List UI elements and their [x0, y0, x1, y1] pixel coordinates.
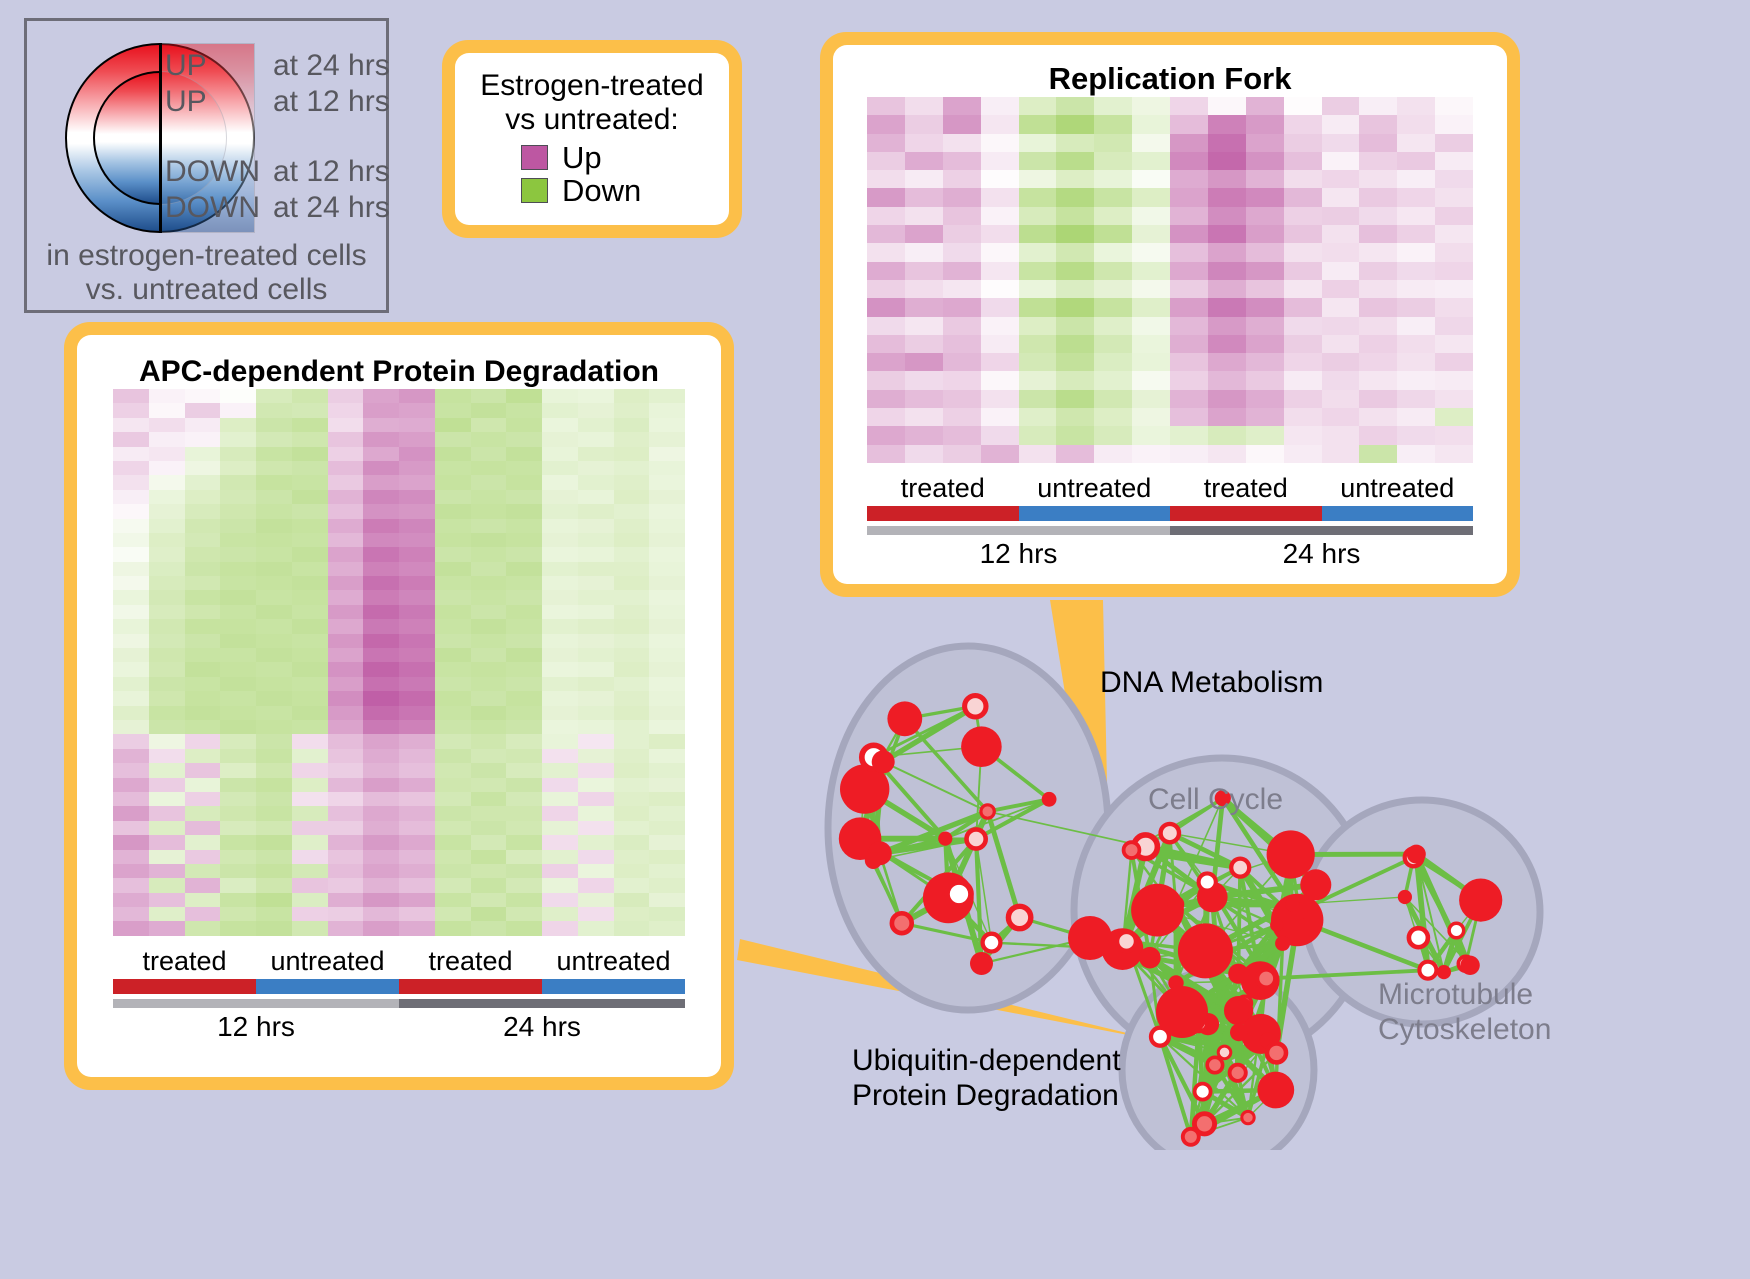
heatmap-cell — [399, 734, 435, 748]
heatmap-cell — [328, 605, 364, 619]
heatmap-cell — [614, 432, 650, 446]
heatmap-cell — [1019, 262, 1057, 280]
heatmap-cell — [1322, 97, 1360, 115]
heatmap-cell — [256, 634, 292, 648]
network-node — [887, 701, 922, 736]
heatmap-cell — [471, 648, 507, 662]
heatmap-cell — [578, 432, 614, 446]
heatmap-cell — [328, 447, 364, 461]
heatmap-cell — [471, 677, 507, 691]
heatmap-cell — [506, 533, 542, 547]
heatmap-cell — [1359, 353, 1397, 371]
heatmap-cell — [363, 662, 399, 676]
heatmap-cell — [943, 280, 981, 298]
heatmap-cell — [578, 835, 614, 849]
heatmap-cell — [614, 677, 650, 691]
heatmap-cell — [185, 921, 221, 935]
heatmap-cell — [328, 792, 364, 806]
heatmap-cell — [1397, 335, 1435, 353]
color-key-panel: Estrogen-treated vs untreated: Up Down — [442, 40, 742, 238]
heatmap-cell — [1246, 335, 1284, 353]
heatmap-cell — [1056, 371, 1094, 389]
network-node — [1231, 859, 1249, 877]
network-node — [981, 805, 994, 818]
wheel-label-down-24: DOWN — [165, 191, 260, 225]
heatmap-cell — [1246, 170, 1284, 188]
heatmap-cell — [1208, 426, 1246, 444]
heatmap-cell — [471, 734, 507, 748]
heatmap-cell — [506, 590, 542, 604]
heatmap-cell — [506, 720, 542, 734]
heatmap-cell — [399, 547, 435, 561]
heatmap-cell — [328, 778, 364, 792]
heatmap-cell — [149, 619, 185, 633]
heatmap-cell — [328, 490, 364, 504]
heatmap-cell — [1094, 298, 1132, 316]
heatmap-cell — [1019, 445, 1057, 463]
heatmap-cell — [113, 490, 149, 504]
heatmap-cell — [149, 447, 185, 461]
heatmap-cell — [256, 403, 292, 417]
heatmap-cell — [981, 390, 1019, 408]
heatmap-cell — [1435, 134, 1473, 152]
heatmap-cell — [1170, 445, 1208, 463]
heatmap-cell — [578, 749, 614, 763]
heatmap-cell — [1094, 188, 1132, 206]
heatmap-cell — [1359, 207, 1397, 225]
heatmap-cell — [506, 835, 542, 849]
heatmap-cell — [185, 677, 221, 691]
heatmap-cell — [867, 170, 905, 188]
heatmap-cell — [292, 835, 328, 849]
heatmap-cell — [506, 576, 542, 590]
heatmap-cell — [614, 576, 650, 590]
heatmap-cell — [471, 519, 507, 533]
heatmap-cell — [435, 519, 471, 533]
heatmap-cell — [1246, 280, 1284, 298]
heatmap-cell — [1397, 97, 1435, 115]
bar-time-12 — [867, 526, 1170, 535]
heatmap-cell — [256, 475, 292, 489]
heatmap-cell — [1056, 280, 1094, 298]
heatmap-cell — [1132, 298, 1170, 316]
heatmap-cell — [649, 821, 685, 835]
heatmap-cell — [542, 662, 578, 676]
heatmap-cell — [1246, 243, 1284, 261]
wheel-label-down-12: DOWN — [165, 155, 260, 189]
heatmap-cell — [1094, 353, 1132, 371]
heatmap-cell — [471, 490, 507, 504]
heatmap-cell — [328, 403, 364, 417]
heatmap-cell — [649, 634, 685, 648]
heatmap-cell — [471, 893, 507, 907]
heatmap-cell — [1435, 262, 1473, 280]
heatmap-cell — [943, 225, 981, 243]
heatmap-cell — [506, 504, 542, 518]
heatmap-cell — [1359, 170, 1397, 188]
heatmap-cell — [185, 590, 221, 604]
heatmap-cell — [506, 619, 542, 633]
heatmap-cell — [435, 778, 471, 792]
heatmap-cell — [399, 389, 435, 403]
heatmap-cell — [578, 403, 614, 417]
heatmap-cell — [614, 921, 650, 935]
heatmap-cell — [1208, 152, 1246, 170]
heatmap-cell — [399, 792, 435, 806]
heatmap-cell — [471, 778, 507, 792]
heatmap-cell — [149, 778, 185, 792]
heatmap-cell — [1246, 97, 1284, 115]
heatmap-cell — [328, 835, 364, 849]
heatmap-cell — [981, 335, 1019, 353]
heatmap-cell — [1284, 408, 1322, 426]
heatmap-cell — [649, 662, 685, 676]
wheel-label-up-12: UP — [165, 85, 207, 119]
heatmap-cell — [578, 677, 614, 691]
heatmap-cell — [435, 634, 471, 648]
heatmap-cell — [149, 461, 185, 475]
heatmap-cell — [1322, 335, 1360, 353]
heatmap-cell — [149, 576, 185, 590]
heatmap-cell — [981, 280, 1019, 298]
heatmap-cell — [328, 662, 364, 676]
heatmap-cell — [1435, 426, 1473, 444]
heatmap-cell — [1284, 152, 1322, 170]
heatmap-cell — [542, 389, 578, 403]
heatmap-cell — [542, 893, 578, 907]
heatmap-cell — [292, 806, 328, 820]
caption-line-1: in estrogen-treated cells — [27, 239, 386, 273]
network-node — [1225, 1000, 1248, 1023]
heatmap-cell — [542, 691, 578, 705]
heatmap-cell — [399, 691, 435, 705]
heatmap-cell — [1019, 170, 1057, 188]
heatmap-cell — [1019, 115, 1057, 133]
heatmap-cell — [905, 115, 943, 133]
heatmap-cell — [614, 907, 650, 921]
heatmap-cell — [435, 921, 471, 935]
heatmap-cell — [1019, 426, 1057, 444]
heatmap-cell — [1208, 298, 1246, 316]
heatmap-cell — [1094, 371, 1132, 389]
heatmap-cell — [220, 893, 256, 907]
heatmap-cell — [1019, 335, 1057, 353]
heatmap-cell — [149, 763, 185, 777]
heatmap-cell — [1435, 408, 1473, 426]
heatmap-cell — [185, 576, 221, 590]
heatmap-cell — [905, 152, 943, 170]
heatmap-cell — [905, 390, 943, 408]
heatmap-cell — [113, 461, 149, 475]
heatmap-cell — [1397, 262, 1435, 280]
heatmap-cell — [1056, 335, 1094, 353]
heatmap-cell — [1322, 188, 1360, 206]
heatmap-cell — [1056, 262, 1094, 280]
heatmap-cell — [542, 763, 578, 777]
bar-untreated-24 — [1322, 506, 1474, 521]
heatmap-cell — [1397, 353, 1435, 371]
heatmap-cell — [399, 418, 435, 432]
heatmap-cell — [292, 519, 328, 533]
heatmap-cell — [506, 691, 542, 705]
heatmap-cell — [185, 475, 221, 489]
heatmap-cell — [328, 648, 364, 662]
heatmap-cell — [905, 97, 943, 115]
heatmap-cell — [614, 533, 650, 547]
heatmap-cell — [867, 298, 905, 316]
heatmap-cell — [614, 835, 650, 849]
heatmap-cell — [1094, 280, 1132, 298]
heatmap-cell — [506, 490, 542, 504]
ubiquitin-line-2: Protein Degradation — [852, 1079, 1121, 1114]
axis-label-12hrs: 12 hrs — [113, 1011, 399, 1043]
heatmap-cell — [113, 907, 149, 921]
network-edge — [1238, 868, 1240, 974]
heatmap-cell — [1322, 115, 1360, 133]
heatmap-cell — [542, 821, 578, 835]
heatmap-cell — [867, 115, 905, 133]
heatmap-cell — [363, 562, 399, 576]
heatmap-cell — [435, 792, 471, 806]
heatmap-cell — [1284, 353, 1322, 371]
heatmap-cell — [943, 335, 981, 353]
heatmap-cell — [113, 821, 149, 835]
heatmap-cell — [149, 691, 185, 705]
heatmap-cell — [471, 533, 507, 547]
heatmap-cell — [614, 590, 650, 604]
heatmap-cell — [542, 677, 578, 691]
heatmap-cell — [1132, 426, 1170, 444]
heatmap-cell — [256, 461, 292, 475]
heatmap-cell — [399, 576, 435, 590]
heatmap-cell — [649, 619, 685, 633]
axis-label-treated-24: treated — [399, 946, 542, 977]
network-node — [938, 832, 952, 846]
heatmap-cell — [578, 907, 614, 921]
network-node — [983, 934, 1001, 952]
heatmap-cell — [220, 619, 256, 633]
heatmap-cell — [1056, 188, 1094, 206]
network-node — [1267, 1043, 1286, 1062]
network-node — [1242, 1111, 1254, 1123]
heatmap-cell — [220, 734, 256, 748]
heatmap-cell — [471, 619, 507, 633]
bar-time-12 — [113, 999, 399, 1008]
heatmap-cell — [328, 821, 364, 835]
heatmap-cell — [471, 835, 507, 849]
heatmap-cell — [399, 878, 435, 892]
heatmap-cell — [185, 734, 221, 748]
heatmap-cell — [292, 677, 328, 691]
axis-label-untreated-12: untreated — [256, 946, 399, 977]
heatmap-cell — [1322, 207, 1360, 225]
heatmap-cell — [399, 432, 435, 446]
heatmap-cell — [614, 605, 650, 619]
heatmap-cell — [1397, 371, 1435, 389]
heatmap-cell — [363, 749, 399, 763]
heatmap-cell — [292, 792, 328, 806]
heatmap-cell — [578, 792, 614, 806]
heatmap-cell — [578, 533, 614, 547]
heatmap-cell — [292, 605, 328, 619]
heatmap-cell — [1094, 134, 1132, 152]
heatmap-cell — [185, 447, 221, 461]
axis-label-untreated-12: untreated — [1019, 473, 1171, 504]
heatmap-cell — [1208, 280, 1246, 298]
heatmap-cell — [1246, 317, 1284, 335]
heatmap-cell — [1322, 317, 1360, 335]
heatmap-cell — [981, 207, 1019, 225]
colorwheel-graphic: UP UP DOWN DOWN at 24 hrs at 12 hrs at 1… — [65, 43, 275, 233]
bar-treated-24 — [399, 979, 542, 994]
heatmap-cell — [471, 432, 507, 446]
heatmap-cell — [867, 207, 905, 225]
heatmap-cell — [292, 634, 328, 648]
heatmap-cell — [578, 634, 614, 648]
heatmap-cell — [220, 749, 256, 763]
heatmap-cell — [1208, 390, 1246, 408]
heatmap-cell — [1284, 225, 1322, 243]
heatmap-cell — [943, 298, 981, 316]
heatmap-cell — [363, 691, 399, 705]
heatmap-cell — [614, 720, 650, 734]
heatmap-cell — [1208, 207, 1246, 225]
heatmap-cell — [649, 605, 685, 619]
heatmap-cell — [981, 97, 1019, 115]
heatmap-cell — [1359, 134, 1397, 152]
heatmap-cell — [867, 317, 905, 335]
axis-treatment-bars — [113, 979, 685, 994]
heatmap-cell — [506, 850, 542, 864]
heatmap-cell — [471, 504, 507, 518]
heatmap-cell — [399, 403, 435, 417]
heatmap-cell — [149, 590, 185, 604]
heatmap-cell — [1246, 225, 1284, 243]
heatmap-cell — [649, 677, 685, 691]
heatmap-cell — [1094, 170, 1132, 188]
axis-label-12hrs: 12 hrs — [867, 538, 1170, 570]
heatmap-cell — [435, 619, 471, 633]
heatmap-cell — [113, 706, 149, 720]
heatmap-cell — [256, 504, 292, 518]
heatmap-cell — [363, 619, 399, 633]
heatmap-cell — [256, 432, 292, 446]
heatmap-cell — [149, 562, 185, 576]
network-node — [1008, 906, 1030, 928]
cluster-label-cell-cycle: Cell Cycle — [1148, 783, 1283, 817]
network-node — [872, 750, 895, 773]
heatmap-cell — [1170, 408, 1208, 426]
heatmap-cell — [399, 749, 435, 763]
network-node — [1068, 916, 1112, 960]
heatmap-cell — [363, 763, 399, 777]
axis-label-24hrs: 24 hrs — [1170, 538, 1473, 570]
axis-label-treated-24: treated — [1170, 473, 1322, 504]
heatmap-cell — [1056, 134, 1094, 152]
heatmap-cell — [943, 170, 981, 188]
heatmap-cell — [399, 447, 435, 461]
heatmap-cell — [256, 749, 292, 763]
heatmap-cell — [292, 864, 328, 878]
axis-label-treated-12: treated — [867, 473, 1019, 504]
heatmap-cell — [256, 389, 292, 403]
heatmap-cell — [149, 677, 185, 691]
colorwheel-legend-box: UP UP DOWN DOWN at 24 hrs at 12 hrs at 1… — [24, 18, 389, 313]
heatmap-cell — [542, 806, 578, 820]
heatmap-cell — [1019, 408, 1057, 426]
heatmap-cell — [1056, 170, 1094, 188]
heatmap-cell — [185, 461, 221, 475]
heatmap-cell — [149, 490, 185, 504]
heatmap-cell — [1322, 445, 1360, 463]
heatmap-cell — [185, 706, 221, 720]
network-node — [1156, 986, 1208, 1038]
heatmap-cell — [292, 403, 328, 417]
heatmap-cell — [506, 605, 542, 619]
heatmap-cell — [328, 706, 364, 720]
heatmap-cell — [435, 447, 471, 461]
heatmap-cell — [1056, 207, 1094, 225]
heatmap-cell — [943, 426, 981, 444]
heatmap-cell — [1435, 207, 1473, 225]
heatmap-cell — [328, 432, 364, 446]
heatmap-cell — [399, 821, 435, 835]
heatmap-cell — [1132, 317, 1170, 335]
heatmap-cell — [328, 547, 364, 561]
heatmap-cell — [435, 734, 471, 748]
heatmap-cell — [614, 447, 650, 461]
network-node — [892, 913, 912, 933]
network-node — [1267, 830, 1315, 878]
heatmap-cell — [1246, 134, 1284, 152]
heatmap-cell — [614, 878, 650, 892]
heatmap-cell — [1397, 115, 1435, 133]
heatmap-cell — [113, 835, 149, 849]
heatmap-cell — [1132, 390, 1170, 408]
heatmap-cell — [649, 734, 685, 748]
heatmap-cell — [614, 662, 650, 676]
heatmap-cell — [1359, 262, 1397, 280]
heatmap-cell — [578, 720, 614, 734]
heatmap-cell — [981, 317, 1019, 335]
heatmap-cell — [471, 691, 507, 705]
heatmap-cell — [399, 519, 435, 533]
heatmap-cell — [649, 490, 685, 504]
network-node — [967, 829, 986, 848]
heatmap-cell — [1132, 225, 1170, 243]
bar-treated-24 — [1170, 506, 1322, 521]
heatmap-cell — [943, 134, 981, 152]
heatmap-cell — [292, 389, 328, 403]
heatmap-cell — [256, 921, 292, 935]
heatmap-cell — [435, 533, 471, 547]
heatmap-cell — [113, 504, 149, 518]
heatmap-cell — [649, 921, 685, 935]
heatmap-cell — [113, 792, 149, 806]
apc-degradation-title: APC-dependent Protein Degradation — [113, 355, 685, 389]
heatmap-cell — [867, 225, 905, 243]
heatmap-cell — [113, 590, 149, 604]
heatmap-cell — [328, 677, 364, 691]
heatmap-cell — [149, 850, 185, 864]
heatmap-cell — [1397, 152, 1435, 170]
heatmap-cell — [1132, 115, 1170, 133]
heatmap-cell — [435, 677, 471, 691]
heatmap-cell — [1322, 353, 1360, 371]
heatmap-cell — [399, 864, 435, 878]
heatmap-cell — [113, 850, 149, 864]
heatmap-cell — [328, 878, 364, 892]
